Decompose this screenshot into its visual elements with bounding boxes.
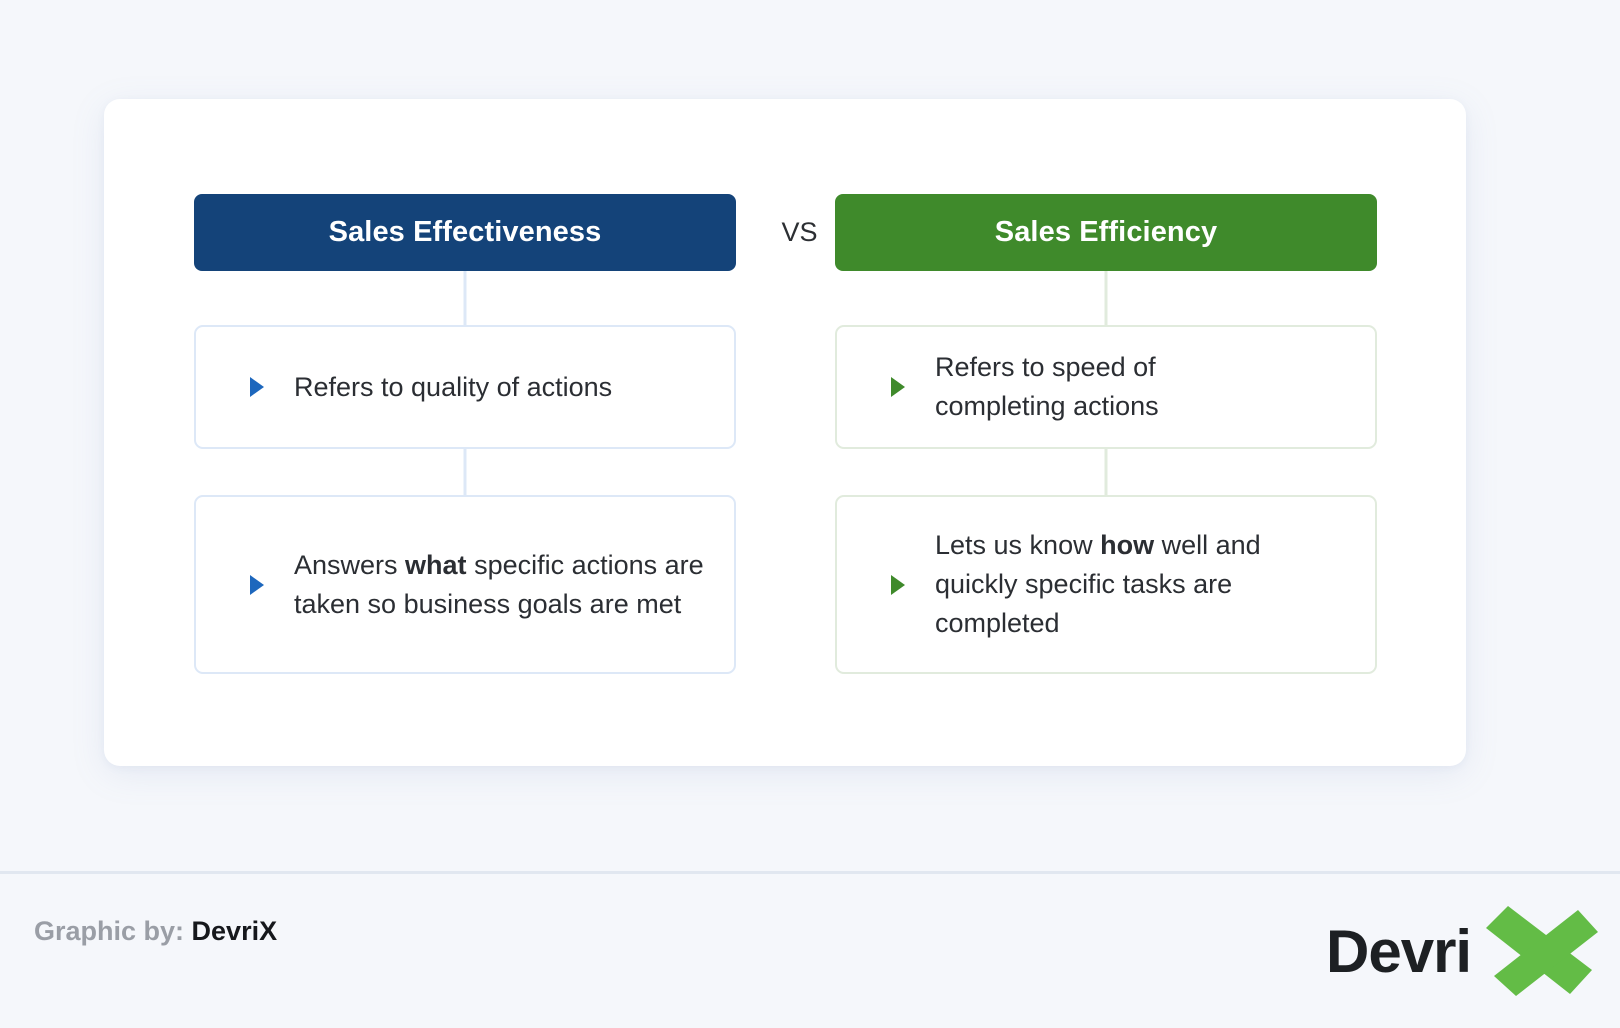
point-text-right-2: Lets us know how well and quickly specif…: [935, 526, 1330, 643]
graphic-credit-label: Graphic by:: [34, 916, 184, 946]
point-text-segment: Refers to speed of completing actions: [935, 352, 1159, 421]
devrix-logo-x-icon: [1478, 900, 1600, 1000]
column-sales-effectiveness: Sales Effectiveness Refers to quality of…: [194, 194, 736, 271]
point-text-left-1: Refers to quality of actions: [294, 368, 632, 407]
comparison-card: Sales Effectiveness Refers to quality of…: [104, 99, 1466, 766]
point-text-right-1: Refers to speed of completing actions: [935, 348, 1255, 426]
bullet-triangle-icon: [891, 377, 905, 397]
column-header-sales-efficiency: Sales Efficiency: [835, 194, 1377, 271]
devrix-logo: Devri: [1326, 896, 1596, 1000]
point-text-emphasis: what: [405, 550, 467, 580]
versus-separator: VS: [754, 194, 845, 271]
column-header-sales-effectiveness: Sales Effectiveness: [194, 194, 736, 271]
point-card-right-1: Refers to speed of completing actions: [835, 325, 1377, 449]
point-text-segment: Lets us know: [935, 530, 1100, 560]
column-header-label: Sales Efficiency: [995, 216, 1217, 249]
graphic-credit: Graphic by: DevriX: [34, 916, 277, 947]
point-text-left-2: Answers what specific actions are taken …: [294, 546, 734, 624]
point-card-left-1: Refers to quality of actions: [194, 325, 736, 449]
point-card-left-2: Answers what specific actions are taken …: [194, 495, 736, 674]
bullet-triangle-icon: [891, 575, 905, 595]
graphic-credit-brand: DevriX: [192, 916, 278, 946]
connector-line-header-to-box1: [464, 264, 467, 326]
point-card-right-2: Lets us know how well and quickly specif…: [835, 495, 1377, 674]
footer-bar: Graphic by: DevriX Devri: [0, 874, 1620, 1028]
bullet-triangle-icon: [250, 575, 264, 595]
point-text-emphasis: how: [1100, 530, 1154, 560]
bullet-triangle-icon: [250, 377, 264, 397]
point-text-segment: Refers to quality of actions: [294, 372, 612, 402]
versus-label: VS: [781, 217, 817, 248]
infographic-canvas: Sales Effectiveness Refers to quality of…: [0, 0, 1620, 1028]
column-header-label: Sales Effectiveness: [329, 216, 602, 249]
connector-line-header-to-box1: [1105, 264, 1108, 326]
point-text-segment: Answers: [294, 550, 405, 580]
column-sales-efficiency: Sales Efficiency Refers to speed of comp…: [835, 194, 1377, 271]
devrix-logo-wordmark: Devri: [1326, 922, 1471, 982]
